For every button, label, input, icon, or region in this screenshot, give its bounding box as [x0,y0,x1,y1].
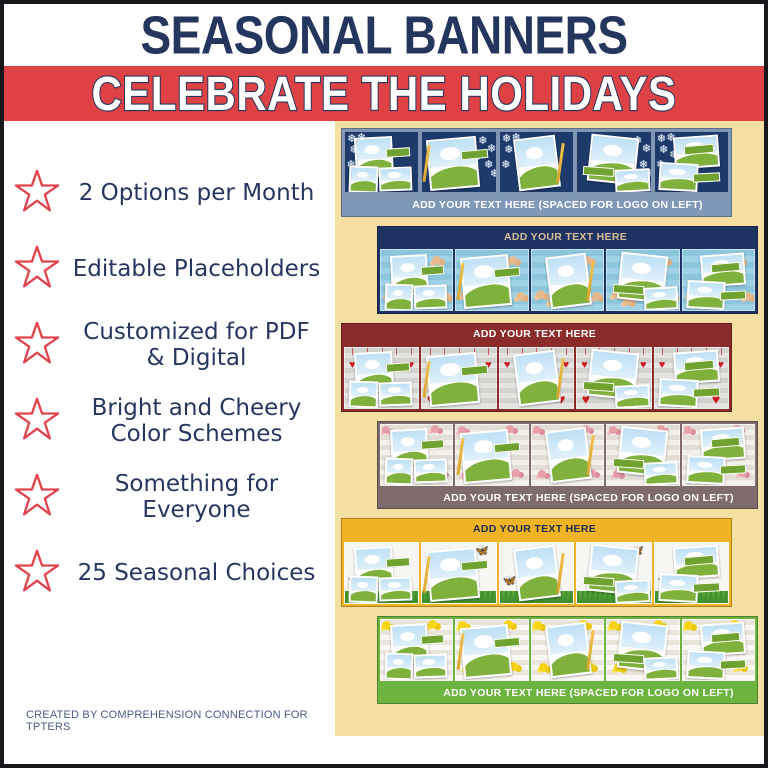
photo-placeholder [460,254,513,309]
snowflake-icon: ❄ [487,144,496,155]
banner-cell[interactable]: 🦋 [421,542,496,604]
blossom-icon [538,470,546,478]
banner-cell[interactable] [531,619,604,681]
cloud-shape [697,287,712,294]
banner-stack: ❄❄❄❄❄❄❄❄❄❄❄❄❄❄❄❄❄❄❄❄❄❄❄❄❄ADD YOUR TEXT H… [335,128,764,704]
banner-preview-1[interactable]: ❄❄❄❄❄❄❄❄❄❄❄❄❄❄❄❄❄❄❄❄❄❄❄❄❄ADD YOUR TEXT H… [341,128,732,217]
snowflake-icon: ❄ [501,160,510,171]
green-bar [720,660,747,670]
cloud-shape [473,265,493,279]
star-icon [14,396,60,447]
green-bar [720,465,747,475]
banner-cell[interactable]: ❄❄❄❄❄ [421,131,496,193]
cloud-shape [440,557,461,571]
body-split: 2 Options per MonthEditable Placeholders… [4,121,764,736]
green-bar [386,557,411,567]
cloud-shape [697,656,712,663]
green-bar [583,166,615,177]
banner-preview-5[interactable]: ADD YOUR TEXT HERE🦋🦋🦋🦋🦋 [341,518,732,607]
banner-caption: ADD YOUR TEXT HERE (SPACED FOR LOGO ON L… [342,195,731,216]
banner-caption: ADD YOUR TEXT HERE [342,324,731,345]
cloud-shape [422,464,435,470]
garland-string [444,348,445,355]
feature-label: 25 Seasonal Choices [66,560,327,586]
photo-placeholder [513,134,561,191]
banner-cell[interactable]: ❄❄❄❄❄ [576,131,651,193]
banner-cells [378,617,757,683]
photo-placeholder [426,136,480,191]
star-icon [14,244,60,295]
photo-placeholder [644,286,679,311]
cloud-shape [557,633,575,647]
banner-preview-2[interactable]: ADD YOUR TEXT HERE [377,226,758,315]
banner-cell[interactable] [531,424,604,486]
banner-cell[interactable] [606,424,679,486]
cloud-shape [631,436,651,449]
cloud-shape [631,261,651,274]
butterfly-icon: 🦋 [475,546,489,557]
banner-preview-6[interactable]: ADD YOUR TEXT HERE (SPACED FOR LOGO ON L… [377,616,758,705]
snowflake-icon: ❄ [659,145,668,156]
banner-cell[interactable]: 🦋 [344,542,419,604]
subtitle-band: CELEBRATE THE HOLIDAYS [4,66,764,121]
banner-cell[interactable]: ♥♥♥♥♥♥ [344,347,419,409]
banner-cell[interactable] [606,619,679,681]
banner-cell[interactable] [380,424,453,486]
feature-item-6: 25 Seasonal Choices [14,535,327,611]
banner-cell[interactable]: ♥♥♥♥♥♥ [576,347,651,409]
blossom-icon [431,425,439,433]
banner-cell[interactable]: ♥♥♥♥♥♥ [654,347,729,409]
banner-cell[interactable]: 🦋 [499,542,574,604]
feature-item-2: Editable Placeholders [14,231,327,307]
star-icon [14,168,60,219]
cloud-shape [670,169,686,176]
photo-placeholder [545,252,592,309]
heart-icon: ♥ [659,359,666,371]
banner-cell[interactable] [606,249,679,311]
garland-string [566,348,567,355]
cloud-shape [388,582,401,588]
cloud-shape [357,387,368,393]
cloud-shape [357,582,368,588]
snowflake-icon: ❄ [504,145,513,156]
green-bar [693,583,720,593]
blossom-icon [684,426,692,434]
photo-placeholder [378,166,412,192]
poster: SEASONAL BANNERS CELEBRATE THE HOLIDAYS … [0,0,768,768]
cloud-shape [357,171,368,177]
feature-label: Bright and CheeryColor Schemes [66,395,327,447]
cloud-shape [365,144,380,154]
cloud-shape [388,387,401,393]
cloud-shape [400,437,415,447]
banner-cell[interactable] [455,619,528,681]
flower-icon [536,290,545,299]
garland-string [411,348,412,355]
banner-cell[interactable] [531,249,604,311]
banner-cell[interactable]: ♥♥♥♥♥♥ [499,347,574,409]
banner-cells [378,247,757,313]
cloud-shape [400,632,415,642]
banner-cell[interactable] [380,249,453,311]
cloud-shape [624,174,638,180]
feature-item-1: 2 Options per Month [14,155,327,231]
cloud-shape [473,634,493,648]
banner-caption: ADD YOUR TEXT HERE [342,519,731,540]
forsythia-icon [684,621,693,630]
photo-placeholder [426,546,480,601]
photo-placeholder [349,165,379,193]
cloud-shape [624,389,638,395]
heart-icon: ♥ [640,359,647,371]
flower-icon [508,256,517,265]
banner-cell[interactable]: 🦋 [654,542,729,604]
feature-label: Customized for PDF& Digital [66,319,327,371]
feature-list: 2 Options per MonthEditable Placeholders… [4,121,335,706]
title-row: SEASONAL BANNERS [4,4,764,66]
banner-cells [378,422,757,488]
cloud-shape [473,439,493,453]
cloud-shape [624,584,638,590]
cloud-shape [557,264,575,278]
photo-placeholder [513,350,561,407]
feature-panel: 2 Options per MonthEditable Placeholders… [4,121,335,736]
butterfly-icon: 🦋 [503,576,517,587]
banner-cell[interactable] [682,619,755,681]
photo-placeholder [615,384,651,409]
photo-placeholder [385,283,414,311]
forsythia-icon [428,620,437,629]
banner-preview-3[interactable]: ADD YOUR TEXT HERE♥♥♥♥♥♥♥♥♥♥♥♥♥♥♥♥♥♥♥♥♥♥… [341,323,732,412]
banner-preview-4[interactable]: ADD YOUR TEXT HERE (SPACED FOR LOGO ON L… [377,421,758,510]
cloud-shape [388,172,401,178]
banner-caption: ADD YOUR TEXT HERE (SPACED FOR LOGO ON L… [378,683,757,704]
feature-item-5: Something for Everyone [14,459,327,535]
photo-placeholder [545,427,592,484]
photo-placeholder [460,428,513,483]
green-bar [493,441,520,452]
photo-placeholder [426,351,480,406]
green-bar [460,364,488,376]
cloud-shape [393,464,404,470]
cloud-shape [653,466,666,472]
preview-panel: ❄❄❄❄❄❄❄❄❄❄❄❄❄❄❄❄❄❄❄❄❄❄❄❄❄ADD YOUR TEXT H… [335,121,764,736]
cloud-shape [525,361,543,375]
snowflake-icon: ❄ [642,144,651,155]
photo-placeholder [644,656,679,681]
garland-string [507,348,508,355]
snowflake-icon: ❄ [490,169,497,180]
cloud-shape [602,359,622,372]
cloud-shape [602,554,622,567]
star-icon [14,548,60,599]
banner-cell[interactable]: ❄❄❄❄❄ [654,131,729,193]
banner-cells: ❄❄❄❄❄❄❄❄❄❄❄❄❄❄❄❄❄❄❄❄❄❄❄❄❄ [342,129,731,195]
page-title: SEASONAL BANNERS [141,4,628,67]
green-bar [386,147,411,157]
cloud-shape [697,461,712,468]
forsythia-icon [539,663,548,672]
photo-placeholder [545,622,592,679]
banner-cell[interactable] [682,249,755,311]
garland-string [662,348,663,355]
feature-label: Something for Everyone [66,471,327,523]
blossom-icon [533,426,541,434]
cloud-shape [670,384,686,391]
banner-cell[interactable]: ❄❄❄❄❄ [499,131,574,193]
cloud-shape [631,631,651,644]
cloud-shape [393,289,404,295]
banner-cell[interactable] [682,424,755,486]
banner-caption: ADD YOUR TEXT HERE (SPACED FOR LOGO ON L… [378,488,757,509]
banner-cell[interactable]: 🦋 [576,542,651,604]
heart-icon: ♥ [504,359,511,371]
cloud-shape [653,292,666,298]
garland-string [430,348,431,355]
photo-placeholder [615,168,651,193]
garland-string [488,348,489,355]
photo-placeholder [349,381,379,409]
green-bar [421,439,445,449]
cloud-shape [557,438,575,452]
flower-icon [516,292,525,301]
blossom-icon [609,426,617,434]
forsythia-icon [533,621,542,630]
forsythia-icon [609,621,618,630]
feature-label: Editable Placeholders [66,256,327,282]
photo-placeholder [513,545,561,602]
feature-item-4: Bright and CheeryColor Schemes [14,383,327,459]
green-bar [460,559,488,571]
cloud-shape [393,659,404,665]
photo-placeholder [460,623,513,678]
photo-placeholder [385,653,414,681]
banner-cell[interactable] [455,424,528,486]
photo-placeholder [378,577,412,603]
feature-item-3: Customized for PDF& Digital [14,307,327,383]
green-bar [720,290,747,300]
green-bar [493,267,520,278]
cloud-shape [400,262,415,272]
photo-placeholder [413,654,446,680]
banner-cell[interactable]: ❄❄❄❄❄ [344,131,419,193]
green-bar [613,284,644,295]
cloud-shape [422,290,435,296]
banner-cell[interactable]: ♥♥♥♥♥♥ [421,347,496,409]
green-bar [693,172,720,182]
photo-placeholder [385,458,414,486]
garland-string [585,348,586,355]
green-bar [693,388,720,398]
garland-string [396,348,397,355]
cloud-shape [422,659,435,665]
cloud-shape [670,579,686,586]
cloud-shape [440,362,461,376]
feature-label: 2 Options per Month [66,180,327,206]
green-bar [421,634,445,644]
green-bar [386,362,411,372]
credit-line: CREATED BY COMPREHENSION CONNECTION FOR … [4,706,335,736]
garland-string [643,348,644,355]
banner-cells: 🦋🦋🦋🦋🦋 [342,540,731,606]
star-icon [14,472,60,523]
photo-placeholder [349,576,379,604]
flower-icon [592,292,601,301]
garland-string [721,348,722,355]
banner-cells: ♥♥♥♥♥♥♥♥♥♥♥♥♥♥♥♥♥♥♥♥♥♥♥♥♥♥♥♥♥♥ [342,345,731,411]
flower-icon [432,256,441,265]
cloud-shape [365,360,380,370]
cloud-shape [440,147,461,161]
banner-cell[interactable] [455,249,528,311]
cloud-shape [653,661,666,667]
cloud-shape [602,143,622,156]
banner-cell[interactable] [380,619,453,681]
star-icon [14,320,60,371]
photo-placeholder [615,579,651,604]
heart-icon: ♥ [581,359,588,371]
green-bar [493,636,520,647]
banner-caption: ADD YOUR TEXT HERE [378,227,757,248]
photo-placeholder [644,461,679,486]
photo-placeholder [413,459,446,485]
cloud-shape [525,556,543,570]
page-subtitle: CELEBRATE THE HOLIDAYS [91,66,676,121]
photo-placeholder [378,382,412,408]
blossom-icon [512,469,520,477]
cloud-shape [525,146,543,160]
photo-placeholder [413,284,446,310]
green-bar [421,265,445,275]
cloud-shape [365,555,380,565]
